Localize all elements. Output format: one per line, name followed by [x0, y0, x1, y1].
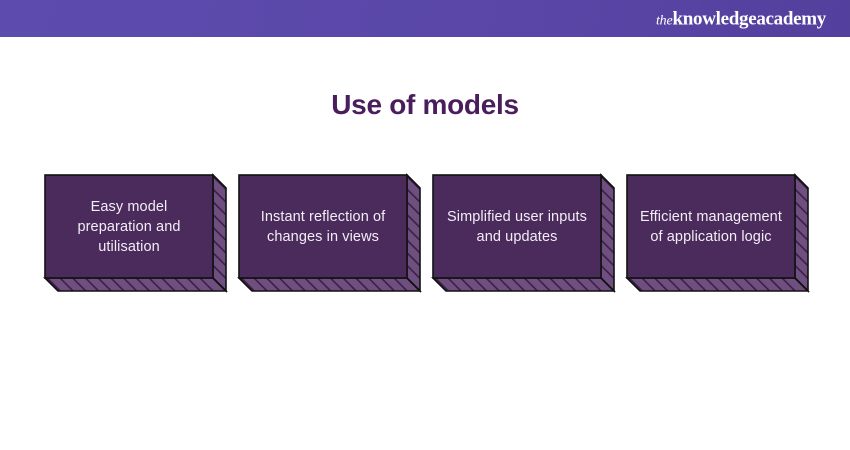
block-card-3: Simplified user inputs and updates — [433, 175, 601, 295]
brand-logo-prefix: the — [656, 13, 673, 28]
header-band: theknowledgeacademy — [0, 0, 850, 37]
block-face-4: Efficient management of application logi… — [627, 175, 795, 278]
block-card-1: Easy model preparation and utilisation — [45, 175, 213, 295]
block-face-2: Instant reflection of changes in views — [239, 175, 407, 278]
block-card-2: Instant reflection of changes in views — [239, 175, 407, 295]
page-title: Use of models — [0, 88, 850, 122]
block-label-1: Easy model preparation and utilisation — [54, 197, 204, 257]
blocks-row: Easy model preparation and utilisation I… — [45, 175, 810, 295]
block-label-2: Instant reflection of changes in views — [248, 207, 398, 247]
block-card-4: Efficient management of application logi… — [627, 175, 795, 295]
block-face-1: Easy model preparation and utilisation — [45, 175, 213, 278]
brand-logo: theknowledgeacademy — [656, 9, 826, 28]
block-label-4: Efficient management of application logi… — [636, 207, 786, 247]
block-face-3: Simplified user inputs and updates — [433, 175, 601, 278]
brand-logo-main: knowledgeacademy — [672, 8, 826, 29]
block-label-3: Simplified user inputs and updates — [442, 207, 592, 247]
